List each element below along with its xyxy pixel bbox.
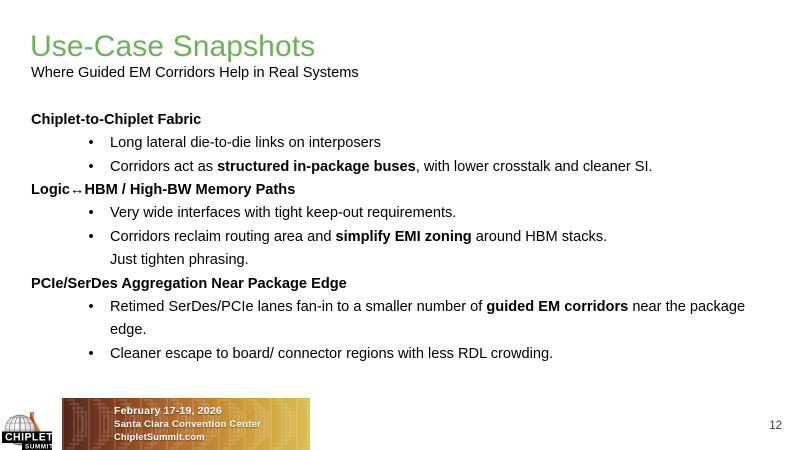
bullet-text: Corridors reclaim routing area and [110, 229, 336, 245]
slide-subtitle: Where Guided EM Corridors Help in Real S… [31, 62, 761, 85]
page-number: 12 [769, 420, 782, 432]
bullet-item: •Very wide interfaces with tight keep-ou… [31, 202, 761, 225]
bullet-list: •Long lateral die-to-die links on interp… [31, 132, 761, 179]
bullet-dot-icon: • [86, 156, 96, 179]
slide-canvas: Use-Case Snapshots Where Guided EM Corri… [0, 0, 800, 450]
banner-venue: Santa Clara Convention Center [114, 419, 261, 430]
bullet-text: Retimed SerDes/PCIe lanes fan-in to a sm… [110, 299, 486, 315]
continuation-line: Just tighten phrasing. [31, 249, 761, 272]
bullet-text: Long lateral die-to-die links on interpo… [110, 135, 381, 151]
chiplet-summit-logo: CHIPLET SUMMIT [0, 398, 62, 450]
bullet-item: •Corridors reclaim routing area and simp… [31, 226, 761, 249]
bullet-dot-icon: • [86, 343, 96, 366]
logo-name-bottom: SUMMIT [25, 444, 54, 450]
bullet-text: around HBM stacks. [472, 229, 607, 245]
section-heading: PCIe/SerDes Aggregation Near Package Edg… [31, 273, 761, 296]
bullet-item: •Cleaner escape to board/ connector regi… [31, 343, 761, 366]
page-title: Use-Case Snapshots [30, 29, 315, 65]
bullet-text: Corridors act as [110, 159, 217, 175]
event-date-banner: February 17-19, 2026 Santa Clara Convent… [62, 398, 310, 450]
slide-footer: CHIPLET SUMMIT [0, 398, 800, 450]
bullet-emphasis: structured in-package buses [217, 159, 416, 175]
bullet-text: Very wide interfaces with tight keep-out… [110, 205, 456, 221]
bullet-dot-icon: • [86, 226, 96, 249]
bullet-item: •Corridors act as structured in-package … [31, 156, 761, 179]
bullet-dot-icon: • [86, 296, 96, 319]
bullet-item: •Retimed SerDes/PCIe lanes fan-in to a s… [31, 296, 761, 343]
bullet-dot-icon: • [86, 132, 96, 155]
body-spacer [31, 85, 761, 108]
bullet-dot-icon: • [86, 202, 96, 225]
section-heading: Logic↔HBM / High-BW Memory Paths [31, 179, 761, 202]
sections-container: Chiplet-to-Chiplet Fabric•Long lateral d… [31, 109, 761, 366]
bullet-text: Cleaner escape to board/ connector regio… [110, 346, 553, 362]
bullet-text: , with lower crosstalk and cleaner SI. [416, 159, 653, 175]
logo-name-top: CHIPLET [5, 432, 53, 444]
bullet-emphasis: guided EM corridors [486, 299, 628, 315]
bullet-item: •Long lateral die-to-die links on interp… [31, 132, 761, 155]
logo-graphic: CHIPLET SUMMIT [0, 398, 62, 450]
bullet-emphasis: simplify EMI zoning [336, 229, 472, 245]
banner-date: February 17-19, 2026 [114, 405, 222, 417]
slide-body: Where Guided EM Corridors Help in Real S… [31, 62, 761, 366]
bullet-list: •Very wide interfaces with tight keep-ou… [31, 202, 761, 272]
section-heading: Chiplet-to-Chiplet Fabric [31, 109, 761, 132]
banner-website: ChipletSummit.com [114, 432, 205, 442]
bullet-list: •Retimed SerDes/PCIe lanes fan-in to a s… [31, 296, 761, 366]
